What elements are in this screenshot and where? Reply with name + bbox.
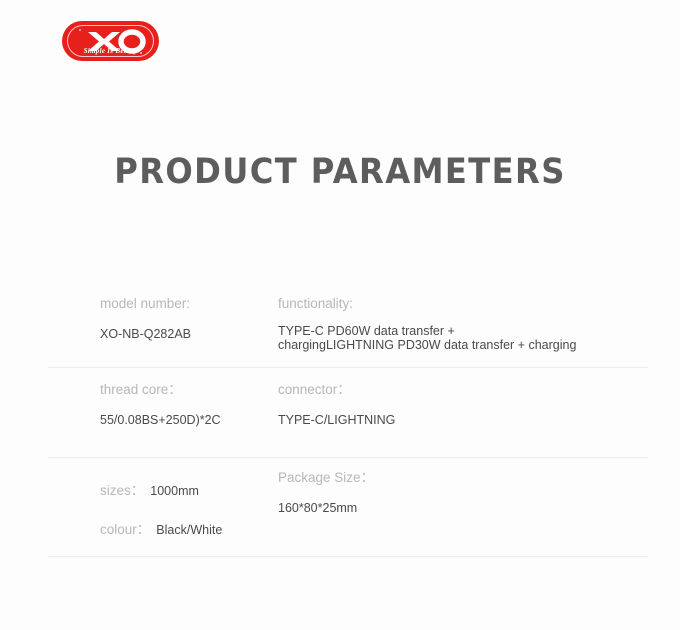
- connector-value: TYPE-C/LIGHTNING: [278, 412, 648, 428]
- xo-logo-icon: [62, 21, 159, 61]
- functionality-value: TYPE-C PD60W data transfer + chargingLIG…: [278, 325, 648, 352]
- product-parameters-table: model number: XO-NB-Q282AB functionality…: [48, 282, 648, 557]
- package-size-value: 160*80*25mm: [278, 500, 648, 516]
- spec-cell-sizes-colour: sizes： 1000mm colour： Black/White: [48, 458, 266, 556]
- spec-cell-connector: connector： TYPE-C/LIGHTNING: [266, 368, 648, 457]
- functionality-value-line-1: TYPE-C PD60W data transfer +: [278, 325, 648, 339]
- model-number-label: model number:: [100, 295, 266, 313]
- functionality-label: functionality:: [278, 295, 648, 313]
- sizes-value: 1000mm: [150, 483, 199, 499]
- thread-core-label: thread core：: [100, 381, 266, 399]
- colour-value: Black/White: [156, 522, 222, 538]
- package-size-label: Package Size：: [278, 469, 648, 487]
- colour-label: colour：: [100, 521, 150, 539]
- sizes-label: sizes：: [100, 482, 144, 500]
- spec-cell-thread-core: thread core： 55/0.08BS+250D)*2C: [48, 368, 266, 457]
- table-row: sizes： 1000mm colour： Black/White Packag…: [48, 458, 648, 557]
- functionality-value-line-2: chargingLIGHTNING PD30W data transfer + …: [278, 339, 648, 353]
- thread-core-value: 55/0.08BS+250D)*2C: [100, 412, 266, 428]
- colour-pair: colour： Black/White: [100, 521, 266, 539]
- spec-cell-functionality: functionality: TYPE-C PD60W data transfe…: [266, 282, 648, 367]
- page-title: PRODUCT PARAMETERS: [27, 152, 653, 192]
- model-number-value: XO-NB-Q282AB: [100, 326, 266, 342]
- table-row: model number: XO-NB-Q282AB functionality…: [48, 282, 648, 368]
- sizes-pair: sizes： 1000mm: [100, 482, 266, 500]
- spec-cell-model-number: model number: XO-NB-Q282AB: [48, 282, 266, 367]
- table-row: thread core： 55/0.08BS+250D)*2C connecto…: [48, 368, 648, 458]
- brand-logo: Simple Is Beauty: [62, 21, 159, 61]
- spec-cell-package-size: Package Size： 160*80*25mm: [266, 458, 648, 556]
- connector-label: connector：: [278, 381, 648, 399]
- logo-tagline: Simple Is Beauty: [62, 47, 159, 55]
